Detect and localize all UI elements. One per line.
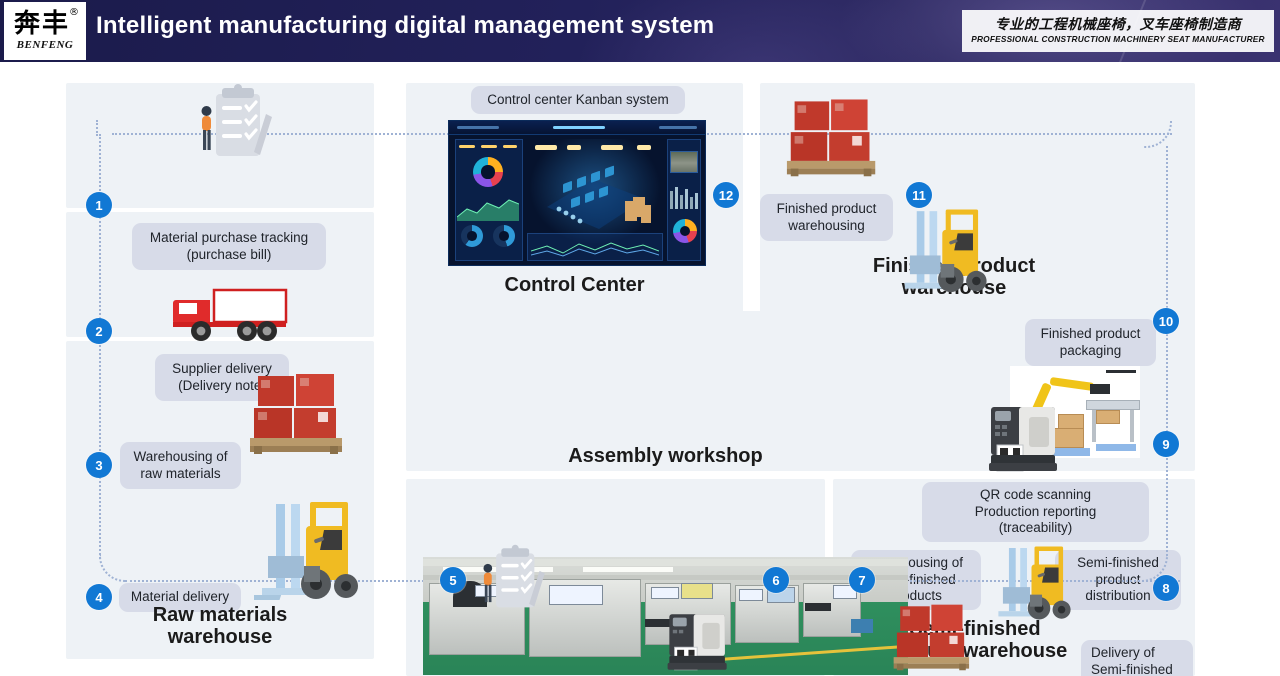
slogan-english: PROFESSIONAL CONSTRUCTION MACHINERY SEAT… — [971, 35, 1264, 44]
kanban-production-line-3d — [533, 155, 659, 241]
panel-title-assembly: Assembly workshop — [423, 445, 908, 467]
conveyor-leg-right — [1130, 410, 1134, 442]
node-9[interactable]: 9 — [1153, 431, 1179, 457]
company-slogan: 专业的工程机械座椅，叉车座椅制造商 PROFESSIONAL CONSTRUCT… — [962, 10, 1274, 52]
kanban-line-chart-bottom — [531, 237, 659, 259]
flow-line-right-vertical — [1166, 146, 1168, 556]
node-5[interactable]: 5 — [440, 567, 466, 593]
chip-qr-code-scanning[interactable]: QR code scanning Production reporting (t… — [922, 482, 1149, 542]
slogan-chinese: 专业的工程机械座椅，叉车座椅制造商 — [995, 18, 1242, 33]
chip-finished-product-packaging[interactable]: Finished product packaging — [1025, 319, 1156, 366]
machine-screen-2 — [549, 585, 603, 605]
kanban-metric-1 — [459, 145, 475, 148]
label-printer-icon — [985, 401, 1063, 477]
node-3[interactable]: 3 — [86, 452, 112, 478]
kanban-kpi-2 — [567, 145, 581, 150]
kanban-donut-chart-left — [473, 157, 503, 187]
kanban-kpi-4 — [637, 145, 651, 150]
logo-chinese-characters: 奔丰 — [14, 9, 70, 39]
kanban-kpi-1 — [535, 145, 557, 150]
kanban-cctv-feed — [670, 151, 698, 173]
finished-forklift-icon — [898, 207, 990, 315]
kanban-logo-text — [457, 126, 499, 129]
robot-top-rail — [1106, 370, 1136, 373]
kanban-metric-2 — [481, 145, 497, 148]
carton-box-3 — [1096, 410, 1120, 424]
workflow-diagram: 1 Material purchase tracking (purchase b… — [0, 62, 1280, 676]
finished-pallet-boxes-icon — [785, 90, 881, 180]
forklift-icon — [254, 500, 362, 625]
node-2[interactable]: 2 — [86, 318, 112, 344]
conveyor-belt — [1086, 400, 1140, 410]
kanban-area-chart-left — [457, 195, 519, 221]
kanban-kpi-3 — [601, 145, 623, 150]
machine-screen-5 — [739, 589, 763, 601]
node-4[interactable]: 4 — [86, 584, 112, 610]
kanban-gauge-2 — [493, 225, 515, 247]
node-11[interactable]: 11 — [906, 182, 932, 208]
kanban-bar-chart-right — [669, 183, 699, 209]
machine-part-dark — [805, 603, 831, 611]
pallet-blue-2 — [1096, 444, 1136, 451]
node-1[interactable]: 1 — [86, 192, 112, 218]
machine-screen-3 — [651, 587, 679, 599]
page-title: Intelligent manufacturing digital manage… — [96, 12, 714, 40]
semi-finished-pallet-boxes-icon — [892, 597, 974, 673]
kanban-title-text — [553, 126, 605, 129]
chip-material-purchase-tracking[interactable]: Material purchase tracking (purchase bil… — [132, 223, 326, 270]
kanban-dashboard-image — [448, 120, 706, 266]
logo-english-text: BENFENG — [17, 40, 74, 51]
processing-label-printer-icon — [664, 609, 732, 675]
company-logo: 奔丰 ® BENFENG — [4, 2, 86, 60]
chip-delivery-semi-finished[interactable]: Delivery of Semi-finished product — [1081, 640, 1193, 676]
bin-blue — [851, 619, 873, 633]
pallet-boxes-icon — [248, 366, 348, 456]
kanban-status-text — [659, 126, 697, 129]
node-10[interactable]: 10 — [1153, 308, 1179, 334]
registered-trademark-icon: ® — [69, 8, 81, 18]
chip-warehousing-raw-materials[interactable]: Warehousing of raw materials — [120, 442, 241, 489]
chip-control-center-kanban[interactable]: Control center Kanban system — [471, 86, 685, 114]
kanban-metric-3 — [503, 145, 517, 148]
node-7[interactable]: 7 — [849, 567, 875, 593]
processing-clipboard-icon — [470, 542, 550, 624]
chip-finished-product-warehousing[interactable]: Finished product warehousing — [760, 194, 893, 241]
robot-arm-forearm — [1050, 377, 1095, 391]
node-12[interactable]: 12 — [713, 182, 739, 208]
clipboard-checklist-icon — [186, 82, 278, 174]
machine-screen-4 — [681, 583, 713, 599]
logo-chinese-text: 奔丰 ® — [14, 11, 76, 37]
kanban-donut-chart-right — [673, 219, 697, 243]
ceiling-light-2 — [583, 567, 673, 572]
node-6[interactable]: 6 — [763, 567, 789, 593]
delivery-truck-icon — [170, 284, 292, 346]
semi-finished-forklift-icon — [992, 545, 1074, 639]
kanban-gauge-1 — [461, 225, 483, 247]
panel-title-control-center: Control Center — [406, 274, 743, 296]
node-8[interactable]: 8 — [1153, 575, 1179, 601]
app-header: 奔丰 ® BENFENG Intelligent manufacturing d… — [0, 0, 1280, 62]
robot-gripper-icon — [1090, 384, 1110, 394]
